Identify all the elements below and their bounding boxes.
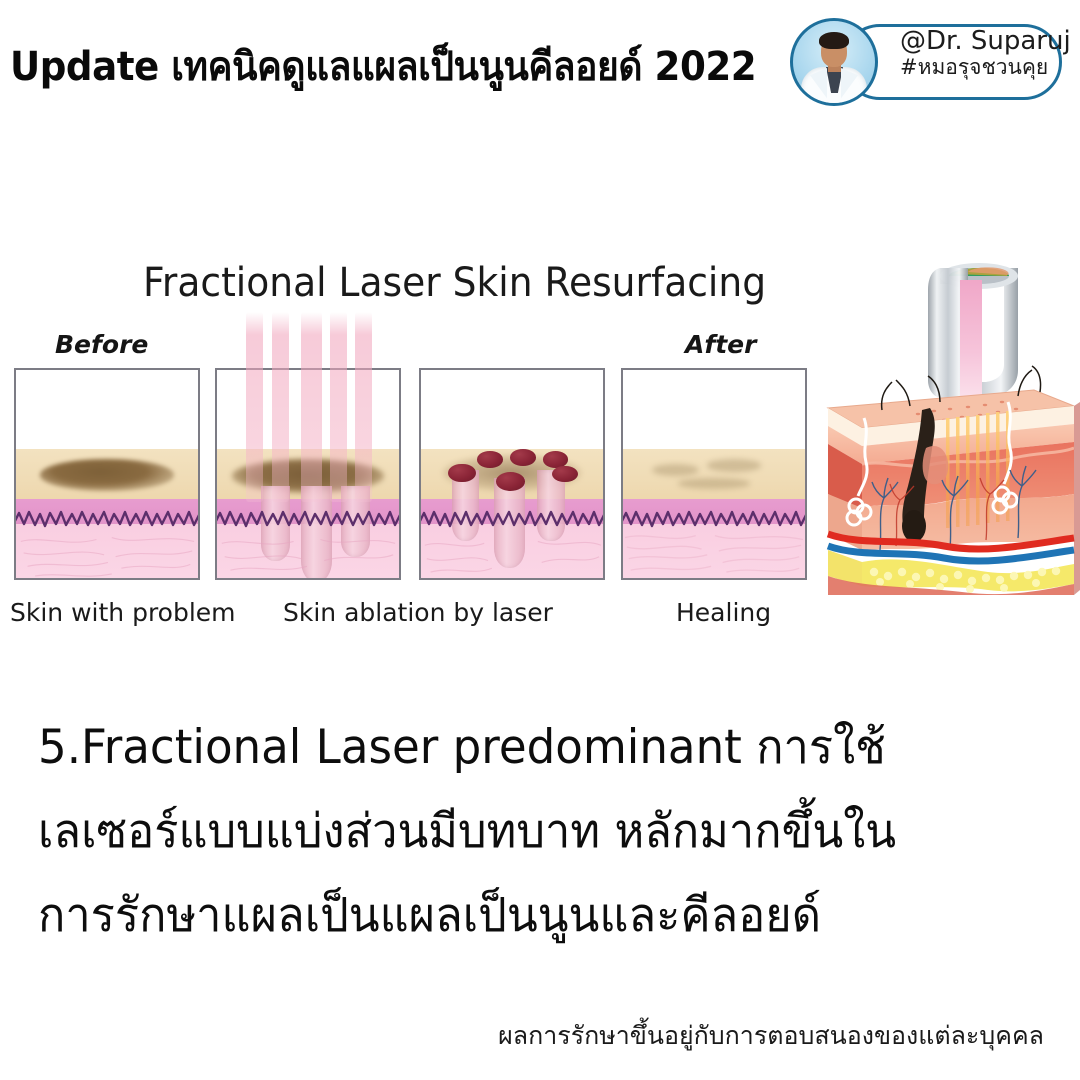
caption-skin-with-problem: Skin with problem [10, 598, 236, 627]
laser-beam-3d-icon [960, 280, 982, 400]
badge-hashtag: #หมอรุจชวนคุย [900, 56, 1068, 79]
skin-panel-ablation-content [421, 370, 603, 578]
panel4-collagen-fibers-icon [623, 528, 805, 578]
panel2-air-layer [217, 370, 399, 449]
panel4-residual-mark [678, 478, 751, 488]
panel-caption-row: Skin with problem Skin ablation by laser… [0, 598, 820, 638]
panel2-collagen-fibers-icon [217, 528, 399, 578]
panel3-ablation-crater [510, 449, 535, 466]
skin-panel-row [14, 368, 814, 583]
skin-panel-ablation [419, 368, 605, 580]
skin-block-illustration [822, 250, 1080, 595]
panel4-residual-mark [707, 459, 762, 471]
before-label: Before [55, 330, 148, 359]
after-label: After [685, 330, 756, 359]
panel1-air-layer [16, 370, 198, 449]
diagram-title: Fractional Laser Skin Resurfacing [143, 260, 766, 306]
panel1-collagen-fibers-icon [16, 528, 198, 578]
avatar [790, 18, 878, 106]
panel3-ablation-crater [496, 472, 525, 491]
panel1-pigment-lesion [40, 459, 175, 490]
body-line-1: 5.Fractional Laser predominant การใช้ [38, 706, 1008, 790]
doctor-branding-badge: @Dr. Suparuj #หมอรุจชวนคุย [790, 18, 1070, 110]
body-line-3: การรักษาแผลเป็นแผลเป็นนูนและคีลอยด์ [38, 874, 1008, 958]
panel3-ablation-crater [448, 464, 475, 483]
panel4-air-layer [623, 370, 805, 449]
page-header: Update เทคนิคดูแลแผลเป็นนูนคีลอยด์ 2022 … [0, 0, 1080, 120]
panel3-ablation-crater [477, 451, 502, 468]
panel3-air-layer [421, 370, 603, 449]
panel3-ablation-crater [552, 466, 577, 483]
body-line-2: เลเซอร์แบบแบ่งส่วนมีบทบาท หลักมากขึ้นใน [38, 790, 1008, 874]
panel4-epidermis-layer [623, 449, 805, 499]
disclaimer-text: ผลการรักษาขึ้นอยู่กับการตอบสนองของแต่ละบ… [498, 1016, 1044, 1056]
skin-panel-laser-beams-content [217, 370, 399, 578]
badge-handle: @Dr. Suparuj [900, 28, 1068, 55]
body-text-block: 5.Fractional Laser predominant การใช้ เล… [38, 706, 1048, 958]
caption-healing: Healing [676, 598, 771, 627]
caption-skin-ablation-by-laser: Skin ablation by laser [283, 598, 553, 627]
skin-panel-after [621, 368, 807, 580]
panel4-residual-mark [652, 464, 699, 476]
skin-panel-laser-beams [215, 368, 401, 580]
avatar-hair-shape [819, 32, 849, 49]
badge-text-group: @Dr. Suparuj #หมอรุจชวนคุย [900, 28, 1068, 79]
panel3-collagen-fibers-icon [421, 528, 603, 578]
page-title: Update เทคนิคดูแลแผลเป็นนูนคีลอยด์ 2022 [10, 34, 756, 98]
skin-panel-before [14, 368, 200, 580]
skin-block-3d [828, 366, 1080, 595]
skin-panel-before-content [16, 370, 198, 578]
skin-panel-after-content [623, 370, 805, 578]
